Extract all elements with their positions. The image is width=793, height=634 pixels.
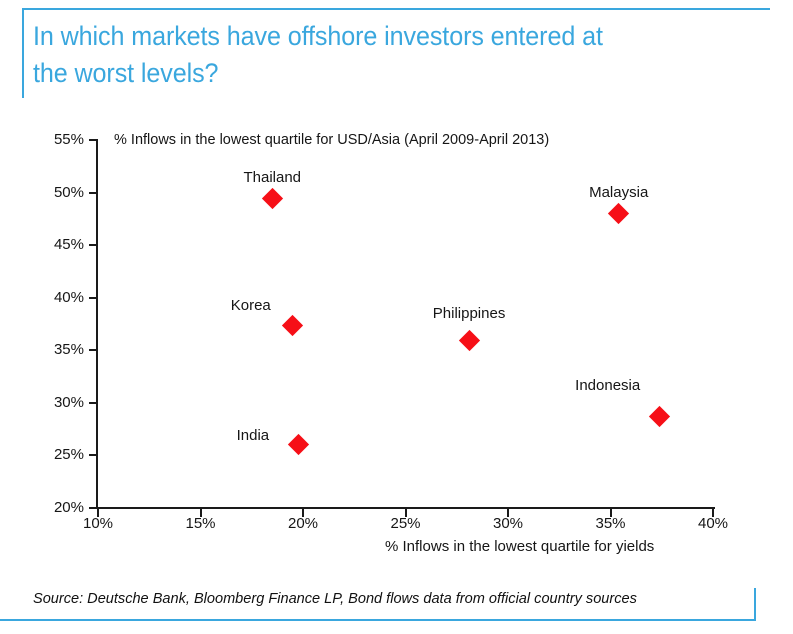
y-axis-tick-label: 40%	[36, 290, 84, 305]
plot-area: ThailandMalaysiaKoreaPhilippinesIndonesi…	[98, 140, 713, 508]
y-axis-tick-label-holder: 50%	[36, 185, 84, 186]
x-axis-title: % Inflows in the lowest quartile for yie…	[385, 538, 654, 555]
y-axis-tick	[89, 244, 97, 246]
data-point-label-korea: Korea	[231, 297, 271, 314]
data-point-malaysia[interactable]	[608, 203, 629, 224]
y-axis-tick-label-holder: 35%	[36, 342, 84, 343]
data-point-label-philippines: Philippines	[433, 305, 506, 322]
data-point-label-thailand: Thailand	[243, 169, 301, 186]
x-axis-tick-label: 10%	[68, 515, 128, 532]
data-point-india[interactable]	[288, 434, 309, 455]
y-axis-tick-label-holder: 30%	[36, 395, 84, 396]
y-axis-tick	[89, 454, 97, 456]
y-axis-tick-label-holder: 45%	[36, 237, 84, 238]
y-axis-tick	[89, 402, 97, 404]
source-note: Source: Deutsche Bank, Bloomberg Finance…	[33, 590, 637, 607]
y-axis-tick-label-holder: 25%	[36, 447, 84, 448]
y-axis-tick-label: 35%	[36, 342, 84, 357]
x-axis-tick-label: 40%	[683, 515, 743, 532]
y-axis-tick-label: 20%	[36, 500, 84, 515]
y-axis-tick-label: 30%	[36, 395, 84, 410]
y-axis-tick	[89, 507, 97, 509]
x-axis-tick-label: 15%	[171, 515, 231, 532]
x-axis-tick-label: 30%	[478, 515, 538, 532]
y-axis-tick-label-holder: 55%	[36, 132, 84, 133]
data-point-label-india: India	[237, 427, 270, 444]
y-axis-tick	[89, 139, 97, 141]
x-axis-tick-label: 25%	[376, 515, 436, 532]
data-point-label-malaysia: Malaysia	[589, 184, 648, 201]
data-point-indonesia[interactable]	[649, 406, 670, 427]
data-point-philippines[interactable]	[458, 330, 479, 351]
data-point-label-indonesia: Indonesia	[575, 377, 640, 394]
y-axis-tick	[89, 192, 97, 194]
data-point-korea[interactable]	[282, 314, 303, 335]
y-axis-tick-label: 25%	[36, 447, 84, 462]
y-axis-tick-label: 45%	[36, 237, 84, 252]
data-point-thailand[interactable]	[262, 188, 283, 209]
x-axis-tick-label: 20%	[273, 515, 333, 532]
y-axis-tick-label-holder: 40%	[36, 290, 84, 291]
scatter-chart: 20%25%30%35%40%45%50%55% 10%15%20%25%30%…	[0, 0, 793, 634]
y-axis-tick-label: 55%	[36, 132, 84, 147]
y-axis-tick-label-holder: 20%	[36, 500, 84, 501]
y-axis-tick	[89, 349, 97, 351]
y-axis-tick-label: 50%	[36, 185, 84, 200]
x-axis-tick-label: 35%	[581, 515, 641, 532]
y-axis-tick	[89, 297, 97, 299]
